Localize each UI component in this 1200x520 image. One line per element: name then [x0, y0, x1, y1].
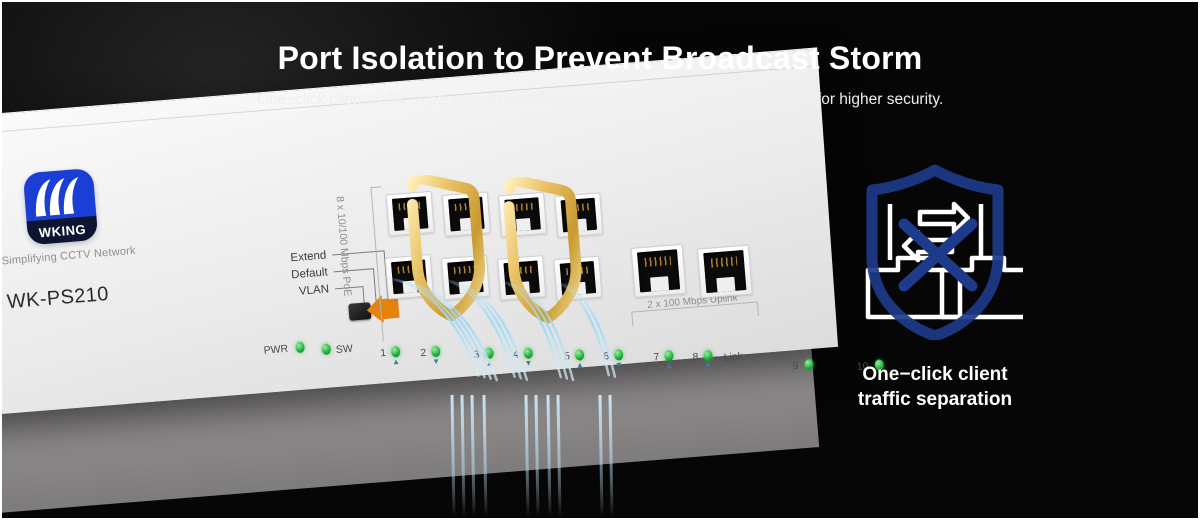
network-switch-device: WKING Simplifying CCTV Network WK-PS210 …: [0, 100, 840, 500]
port-5-direction-arrow: ▲: [576, 361, 585, 370]
gold-shield-overlay-left: [398, 171, 496, 325]
device-model-number: WK-PS210: [6, 283, 110, 314]
wave-mark-icon: [23, 168, 97, 223]
rj45-port-10[interactable]: [697, 245, 753, 299]
port-7-direction-arrow: ▲: [665, 362, 674, 371]
sw-led-label: SW: [335, 343, 353, 356]
shield-port-isolation-icon: [848, 160, 1023, 340]
port-7-led-number: 7: [653, 351, 660, 363]
port-4-led: [523, 347, 533, 359]
feature-caption-line2: traffic separation: [795, 387, 1075, 412]
port-2-led-number: 2: [420, 347, 427, 359]
port-1-led: [391, 346, 401, 358]
port-8-direction-arrow: ▼: [704, 362, 713, 371]
port-1-led-number: 1: [380, 347, 387, 359]
feature-block: One−click client traffic separation: [795, 160, 1075, 412]
page-subtitle: One−click client traffic separation to a…: [0, 89, 1200, 111]
port-6-led-number: 6: [603, 350, 610, 362]
port-6-direction-arrow: ▼: [615, 361, 624, 370]
port-7-led: [664, 350, 674, 362]
port-2-direction-arrow: ▼: [432, 358, 441, 367]
sw-led: [321, 343, 331, 355]
link-led-label: Link: [723, 350, 743, 364]
pwr-led: [295, 342, 305, 354]
feature-caption: One−click client traffic separation: [795, 362, 1075, 412]
port-2-led: [431, 346, 441, 358]
brand-logo: WKING: [23, 168, 99, 245]
headline-block: Port Isolation to Prevent Broadcast Stor…: [0, 38, 1200, 111]
port-1-direction-arrow: ▲: [392, 358, 401, 367]
port-6-led: [614, 349, 624, 361]
promo-banner: Port Isolation to Prevent Broadcast Stor…: [0, 0, 1200, 520]
port-3-direction-arrow: ▲: [485, 359, 494, 368]
page-title: Port Isolation to Prevent Broadcast Stor…: [0, 38, 1200, 78]
brand-logo-text: WKING: [38, 221, 86, 240]
port-5-led: [575, 349, 585, 361]
mode-label-group: Extend Default VLAN: [252, 243, 386, 304]
port-3-led-number: 3: [473, 349, 480, 361]
rj45-port-9[interactable]: [631, 244, 687, 298]
pwr-led-label: PWR: [263, 343, 288, 357]
port-5-led-number: 5: [564, 350, 571, 362]
brand-logo-band: WKING: [27, 216, 99, 246]
port-3-led: [484, 347, 494, 359]
port-4-direction-arrow: ▼: [524, 359, 533, 368]
port-8-led-number: 8: [692, 351, 699, 363]
feature-caption-line1: One−click client: [795, 362, 1075, 387]
gold-shield-overlay-right: [495, 173, 593, 327]
port-4-led-number: 4: [512, 348, 519, 360]
